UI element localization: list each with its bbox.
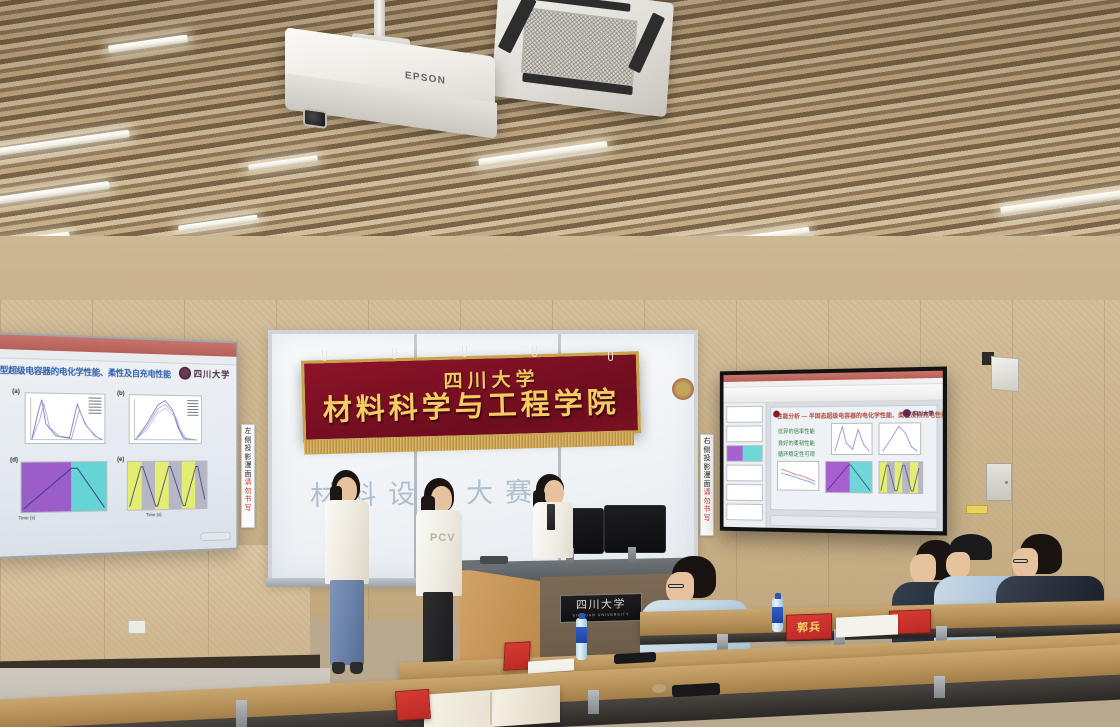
ppt-logo: 四川大学 xyxy=(903,409,934,417)
slide-thumbnail[interactable] xyxy=(726,406,762,423)
powerpoint-workspace: 性能分析 — 半固态超级电容器的电化学性能、柔性及自充电性能 四川大学 优异的倍… xyxy=(724,401,943,532)
banner-hook xyxy=(532,346,537,357)
right-projection-warning-sign: 右侧投影 漫面 请勿书写 xyxy=(700,434,714,536)
judge-nameplate: 郭兵 xyxy=(786,613,832,641)
wall-speaker xyxy=(991,356,1019,392)
presenter-2-torso xyxy=(416,510,462,596)
water-bottle[interactable] xyxy=(772,598,783,632)
ppt-chart-b xyxy=(879,422,922,455)
chart-label-d: (d) xyxy=(10,457,18,463)
water-bottle[interactable] xyxy=(576,618,587,660)
slide-bullet-icon xyxy=(773,411,780,418)
chart-d xyxy=(20,461,107,513)
podium-nameplate: 四川大学 SICHUAN UNIVERSITY xyxy=(560,593,642,623)
chart-e-xlabel: Time (s) xyxy=(146,512,161,517)
chart-label-a: (a) xyxy=(12,389,20,395)
chart-a xyxy=(25,392,106,444)
bottle-cap xyxy=(775,593,781,599)
projector-brand-label: EPSON xyxy=(405,70,446,87)
chart-label-b: (b) xyxy=(117,391,124,397)
banner-hook xyxy=(608,350,613,361)
chart-b xyxy=(129,394,202,444)
desk-nameplate-front xyxy=(395,689,431,721)
presenter-3-tie xyxy=(547,504,555,530)
banner-hook xyxy=(462,346,467,357)
judge-4-glasses xyxy=(1013,559,1028,563)
ppt-chart-c xyxy=(777,461,819,491)
slide-title-text: 型超级电容器的电化学性能、柔性及自充电性能 xyxy=(0,364,197,381)
wall-electrical-panel[interactable] xyxy=(986,463,1012,501)
banner-main-text: 材料科学与工程学院 xyxy=(322,389,620,426)
wall-warning-sign xyxy=(966,505,988,514)
ppt-bullet-item: 优异的倍率性能 xyxy=(778,427,815,435)
slide-thumbnail[interactable] xyxy=(726,484,762,501)
lecture-hall-photo: EPSON 型超级电容器的电化学性能、柔性及自充电性能 四川大学 (a) xyxy=(0,0,1120,727)
presenter-1-shoe xyxy=(350,662,363,674)
slide-edit-stage[interactable]: 性能分析 — 半固态超级电容器的电化学性能、柔性及自充电性能 四川大学 优异的倍… xyxy=(770,405,937,513)
mobile-phone[interactable] xyxy=(672,683,721,697)
judge-4-head xyxy=(1012,548,1038,578)
slide-thumbnail[interactable] xyxy=(726,445,762,462)
chart-label-e: (e) xyxy=(117,457,124,463)
department-banner: 四川大学 材料科学与工程学院 xyxy=(301,351,641,442)
slide-logo-text: 四川大学 xyxy=(194,367,230,381)
slide-thumbnail-panel[interactable] xyxy=(724,403,767,528)
ppt-chart-e xyxy=(879,461,924,494)
ppt-chart-d xyxy=(825,461,872,493)
judge-3-head xyxy=(946,552,970,578)
desk-nameplate xyxy=(503,641,530,670)
slide-thumbnail[interactable] xyxy=(726,425,762,442)
banner-hook xyxy=(322,350,327,361)
university-seal-icon xyxy=(179,367,191,380)
presenter-2-hoodie-print: PCV xyxy=(430,532,456,544)
judge-nameplate-text: 郭兵 xyxy=(797,619,821,636)
podium-plaque-chinese: 四川大学 xyxy=(576,599,626,611)
slide-thumbnail[interactable] xyxy=(726,465,762,482)
slide-university-logo: 四川大学 xyxy=(179,367,230,381)
presenter-1-shoe xyxy=(332,662,345,674)
desk-bracket xyxy=(588,690,599,714)
chart-d-xlabel: Time (s) xyxy=(18,515,35,521)
slide-thumbnail[interactable] xyxy=(726,504,762,521)
right-display-screen[interactable]: 性能分析 — 半固态超级电容器的电化学性能、柔性及自充电性能 四川大学 优异的倍… xyxy=(720,366,947,535)
monitor-stand xyxy=(628,547,636,563)
judge-2-head xyxy=(910,554,936,584)
ppt-bullet-item: 循环稳定性可观 xyxy=(778,450,815,458)
ppt-chart-a xyxy=(831,423,873,455)
bottle-label xyxy=(772,607,783,623)
university-seal-icon xyxy=(903,409,911,417)
podium-monitor-right[interactable] xyxy=(604,505,666,553)
slide-toolbar-chip xyxy=(200,531,231,541)
wall-emblem-icon xyxy=(672,378,694,400)
banner-hook xyxy=(392,348,397,359)
desk-papers xyxy=(836,614,898,637)
powerpoint-status-bar xyxy=(770,515,937,529)
notebook-spine xyxy=(490,692,492,725)
bottle-cap xyxy=(579,613,585,619)
left-projection-screen: 型超级电容器的电化学性能、柔性及自充电性能 四川大学 (a) (b) xyxy=(0,332,238,559)
bottle-label xyxy=(576,627,587,643)
presenter-1-legs xyxy=(330,580,364,665)
ppt-logo-text: 四川大学 xyxy=(913,409,934,416)
podium-control-panel[interactable] xyxy=(480,556,508,564)
chart-e xyxy=(127,461,208,511)
desk-bracket xyxy=(236,700,247,727)
left-wall-panels xyxy=(0,545,310,665)
desk-bracket xyxy=(934,676,945,698)
presenter-1-torso xyxy=(325,500,369,584)
ppt-bullet-item: 良好的柔韧性能 xyxy=(778,439,815,447)
wall-outlet-plate[interactable] xyxy=(128,620,146,634)
left-projection-warning-sign: 左侧投影 漫面 请勿书写 xyxy=(241,424,255,528)
judge-1-glasses xyxy=(668,584,684,588)
banner-cloth: 四川大学 材料科学与工程学院 xyxy=(301,351,641,442)
projector-lens xyxy=(303,108,327,129)
